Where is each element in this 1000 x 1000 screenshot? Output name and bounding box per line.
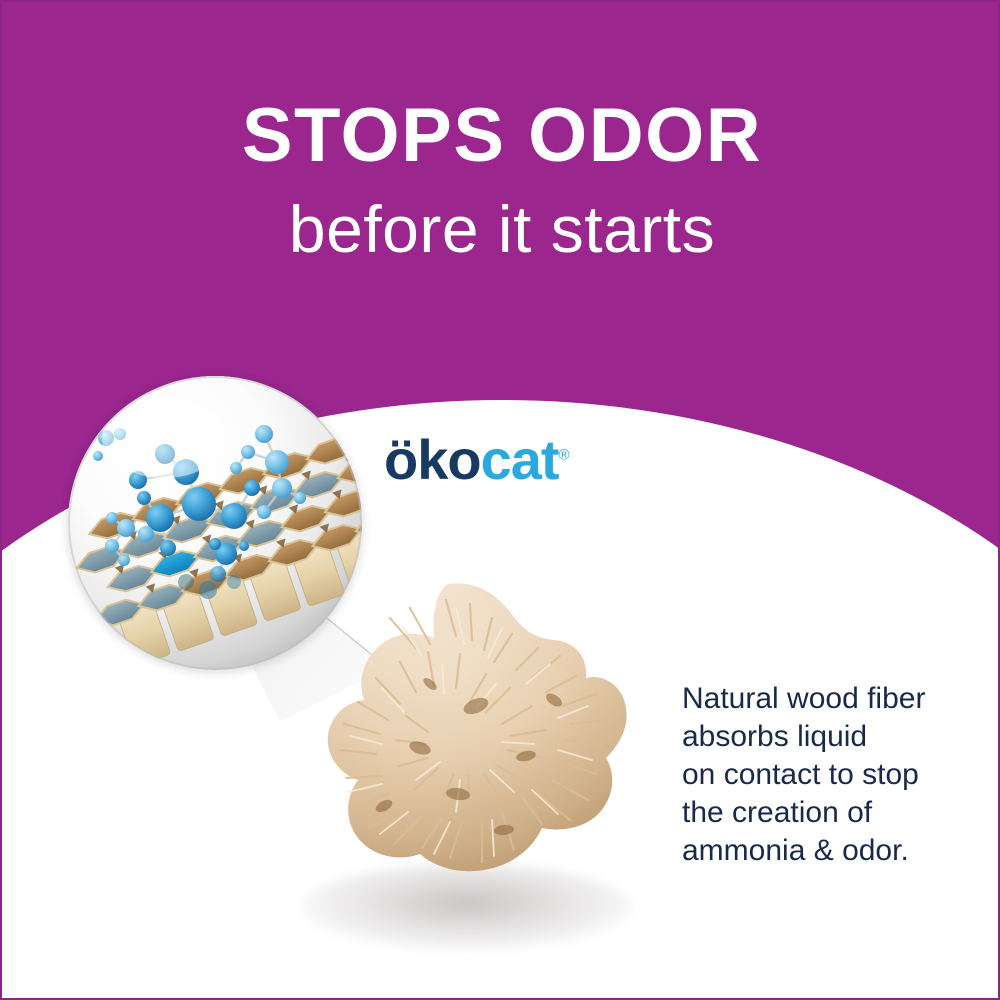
body-line-3: on contact to stop [682,756,972,794]
body-line-5: ammonia & odor. [682,832,972,870]
headline-block: STOPS ODOR before it starts [2,98,1000,262]
logo-cat-text: cat [481,428,559,491]
registered-trademark-icon: ® [559,446,569,463]
body-copy: Natural wood fiber absorbs liquid on con… [682,680,972,870]
wood-fiber-clump [270,578,650,930]
product-marketing-image: STOPS ODOR before it starts [0,0,1000,1000]
logo-oko-text: öko [384,428,481,491]
body-line-1: Natural wood fiber [682,680,972,718]
magnifier-sphere [68,376,362,670]
body-line-4: the creation of [682,794,972,832]
okocat-logo: ökocat® [384,432,569,488]
headline-primary: STOPS ODOR [2,98,1000,174]
headline-secondary: before it starts [2,196,1000,262]
body-line-2: absorbs liquid [682,718,972,756]
